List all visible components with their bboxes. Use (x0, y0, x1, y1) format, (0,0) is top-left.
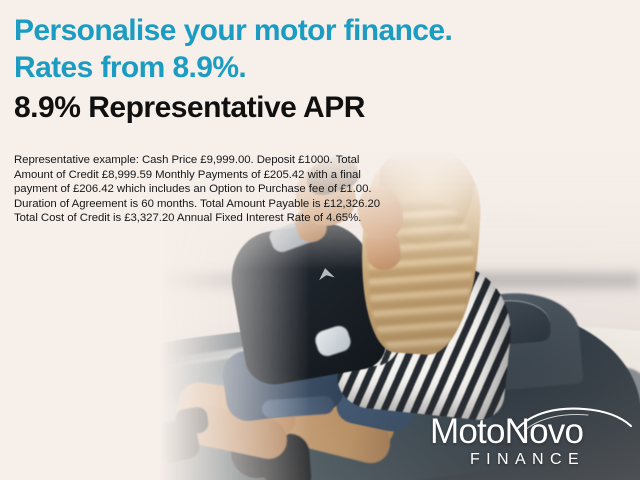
apr-headline: 8.9% Representative APR (14, 90, 365, 125)
headline: Personalise your motor finance. Rates fr… (14, 12, 626, 86)
headline-line-1: Personalise your motor finance. (14, 12, 626, 49)
motonovo-logo: MotoNovo FINANCE (430, 408, 630, 474)
motonovo-wordmark: MotoNovo (430, 414, 583, 449)
headline-line-2: Rates from 8.9%. (14, 49, 626, 86)
representative-example-text: Representative example: Cash Price £9,99… (14, 153, 394, 226)
advertisement-banner: Personalise your motor finance. Rates fr… (0, 0, 640, 480)
logo-subtitle-finance: FINANCE (470, 452, 585, 468)
